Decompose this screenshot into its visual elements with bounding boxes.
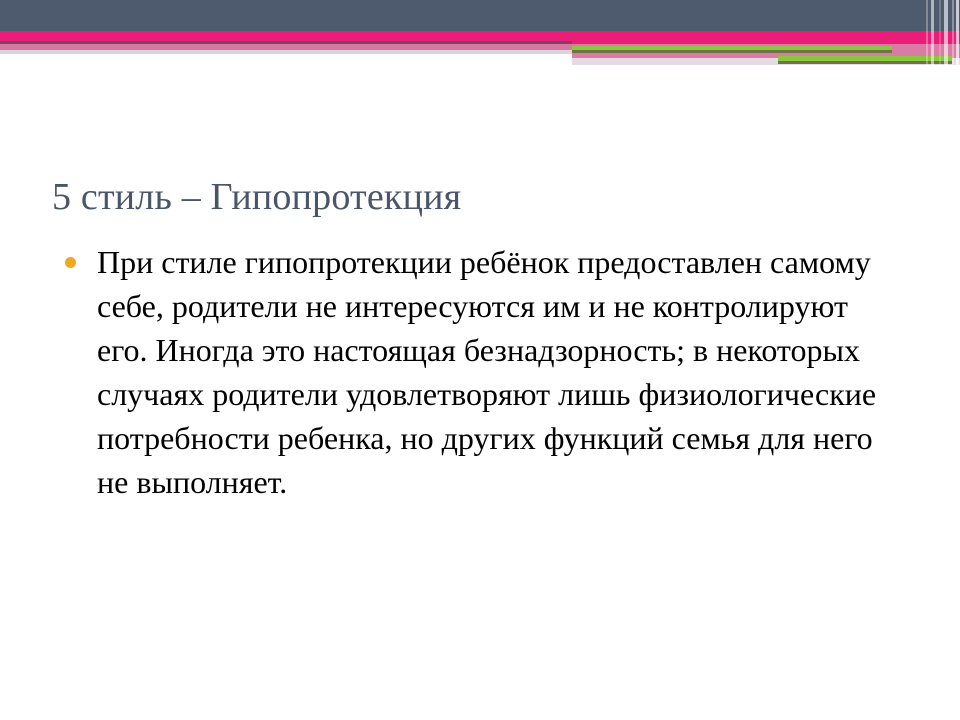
edge-stripe-5 [952, 0, 954, 72]
slide-header-banner [0, 0, 960, 72]
banner-lilac-band-left [0, 50, 572, 54]
slide-title: 5 стиль – Гипопротекция [52, 173, 912, 221]
slide-body-list: При стиле гипопротекции ребёнок предоста… [62, 240, 922, 504]
bullet-item-text: При стиле гипопротекции ребёнок предоста… [97, 240, 877, 504]
bullet-dot-icon [65, 257, 76, 268]
edge-stripe-3 [939, 0, 941, 72]
banner-green-rule-1 [572, 46, 892, 50]
list-item: При стиле гипопротекции ребёнок предоста… [62, 240, 877, 504]
banner-green-rule-1-shadow [572, 50, 892, 53]
presentation-slide: 5 стиль – Гипопротекция При стиле гипопр… [0, 0, 960, 720]
edge-stripe-1 [926, 0, 928, 72]
banner-edge-stripes [922, 0, 960, 72]
banner-slate-band [0, 0, 960, 31]
edge-stripe-6 [956, 0, 959, 72]
edge-stripe-4 [944, 0, 948, 72]
edge-stripe-2 [931, 0, 934, 72]
